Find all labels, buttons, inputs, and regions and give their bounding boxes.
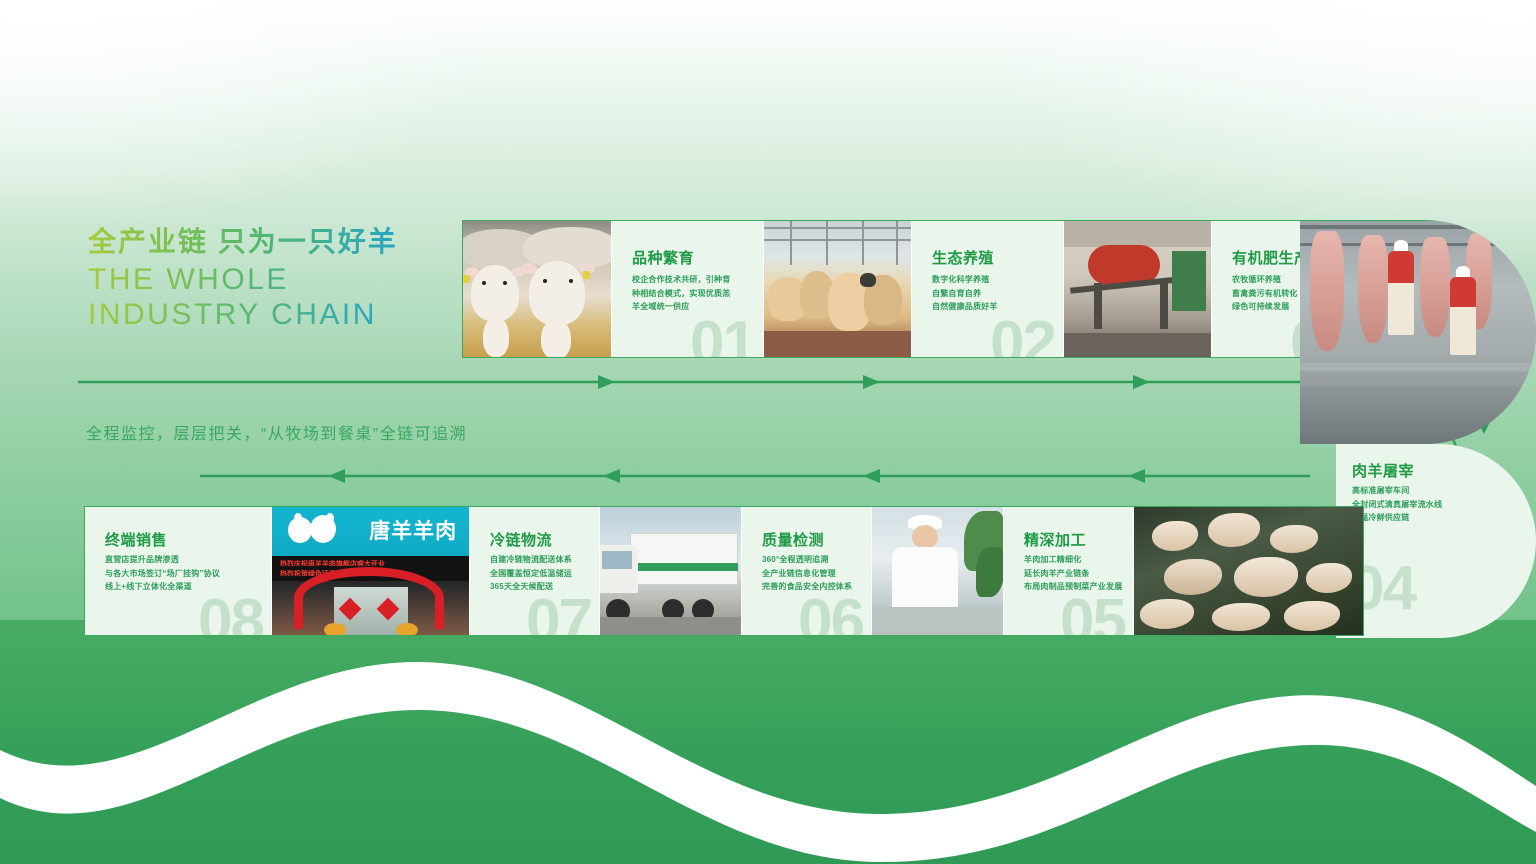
step-desc-07-line1: 自建冷链物流配送体系 [490,553,599,567]
flow-arrow-left-2 [603,469,620,483]
step-photo-07 [599,507,741,635]
subtitle-text: 全程监控，层层把关，“从牧场到餐桌”全链可追溯 [86,420,467,444]
decorative-wave-ribbon [0,600,1536,864]
step-desc-02-line2: 自繁自育自养 [932,287,1063,301]
step-desc-04-line1: 高标准屠宰车间 [1352,484,1532,498]
step-number-01: 01 [690,313,755,357]
headline-english-line1: THE WHOLE [88,262,488,297]
background-glow-top-left [0,0,520,230]
step-card-06[interactable]: 质量检测 360°全程透明追溯 全产业链信息化管理 完善的食品安全内控体系 06 [741,507,871,635]
flow-arrow-right-3 [1133,375,1150,389]
step-desc-08-line2: 与各大市场签订“场厂挂钩”协议 [105,567,269,581]
pipeline-strip-bottom: 终端销售 直营店提升品牌渗透 与各大市场签订“场厂挂钩”协议 线上+线下立体化全… [84,506,1364,636]
headline-chinese: 全产业链 只为一只好羊 [88,222,488,262]
store-mascot-icon [288,513,340,547]
step-photo-08: 唐羊羊肉 热烈庆祝唐羊羊肉旗舰店盛大开业 热烈祝贺绿色环保食品 唐羊羊肉火爆 [271,507,469,635]
flow-arrow-left-4 [1128,469,1145,483]
step-card-05[interactable]: 精深加工 羊肉加工精细化 延长肉羊产业链条 布局肉制品预制菜产业发展 05 [1003,507,1133,635]
step-desc-04-line3: 恒温冷鲜供应链 [1352,511,1532,525]
step-desc-08-line1: 直营店提升品牌渗透 [105,553,269,567]
step-photo-02 [763,221,911,357]
step-number-07: 07 [526,591,591,635]
step-photo-05 [1133,507,1363,635]
step-title-07: 冷链物流 [490,529,552,550]
step-card-02[interactable]: 生态养殖 数字化科学养殖 自繁自育自养 自然健康品质好羊 02 [911,221,1063,357]
step-desc-02: 数字化科学养殖 自繁自育自养 自然健康品质好羊 [932,273,1063,314]
step-photo-01 [463,221,611,357]
store-led-line1: 热烈庆祝唐羊羊肉旗舰店盛大开业 [280,559,461,566]
step-desc-04-line2: 全封闭式清真屠宰流水线 [1352,498,1532,512]
step-number-02: 02 [990,313,1055,357]
pipeline-strip-top: 品种繁育 校企合作技术共研，引种育 种相结合模式，实现优质羔 羊全域统一供应 0… [462,220,1362,358]
store-brand-sign: 唐羊羊肉 [369,515,457,545]
step-photo-06 [871,507,1003,635]
step-number-06: 06 [798,591,863,635]
flow-arrow-left-3 [863,469,880,483]
step-desc-04: 高标准屠宰车间 全封闭式清真屠宰流水线 恒温冷鲜供应链 [1352,484,1532,525]
step-title-01: 品种繁育 [632,247,694,268]
step-card-07[interactable]: 冷链物流 自建冷链物流配送体系 全国覆盖恒定低温储运 365天全天候配送 07 [469,507,599,635]
step-desc-06-line2: 全产业链信息化管理 [762,567,871,581]
step-desc-06-line1: 360°全程透明追溯 [762,553,871,567]
step-desc-01-line2: 种相结合模式，实现优质羔 [632,287,763,301]
step-card-04[interactable]: 肉羊屠宰 高标准屠宰车间 全封闭式清真屠宰流水线 恒温冷鲜供应链 04 [1336,444,1536,638]
step-title-03: 有机肥生产 [1232,247,1310,268]
step-title-02: 生态养殖 [932,247,994,268]
headline-block: 全产业链 只为一只好羊 THE WHOLE INDUSTRY CHAIN [88,222,488,332]
flow-arrow-left-1 [328,469,345,483]
step-photo-04 [1300,220,1536,444]
step-title-05: 精深加工 [1024,529,1086,550]
step-desc-07-line2: 全国覆盖恒定低温储运 [490,567,599,581]
step-title-04: 肉羊屠宰 [1352,460,1414,481]
step-desc-01: 校企合作技术共研，引种育 种相结合模式，实现优质羔 羊全域统一供应 [632,273,763,314]
headline-english-line2: INDUSTRY CHAIN [88,297,488,332]
step-number-05: 05 [1060,591,1125,635]
step-desc-05-line1: 羊肉加工精细化 [1024,553,1133,567]
flow-arrow-right-2 [863,375,880,389]
step-title-06: 质量检测 [762,529,824,550]
step-desc-02-line1: 数字化科学养殖 [932,273,1063,287]
flow-line-top [78,374,1308,390]
step-photo-03 [1063,221,1211,357]
step-title-08: 终端销售 [105,529,167,550]
step-number-08: 08 [198,591,263,635]
step-card-08[interactable]: 终端销售 直营店提升品牌渗透 与各大市场签订“场厂挂钩”协议 线上+线下立体化全… [85,507,271,635]
step-desc-01-line1: 校企合作技术共研，引种育 [632,273,763,287]
step-card-01[interactable]: 品种繁育 校企合作技术共研，引种育 种相结合模式，实现优质羔 羊全域统一供应 0… [611,221,763,357]
flow-line-bottom [200,468,1310,484]
flow-arrow-right-1 [598,375,615,389]
step-desc-05-line2: 延长肉羊产业链条 [1024,567,1133,581]
